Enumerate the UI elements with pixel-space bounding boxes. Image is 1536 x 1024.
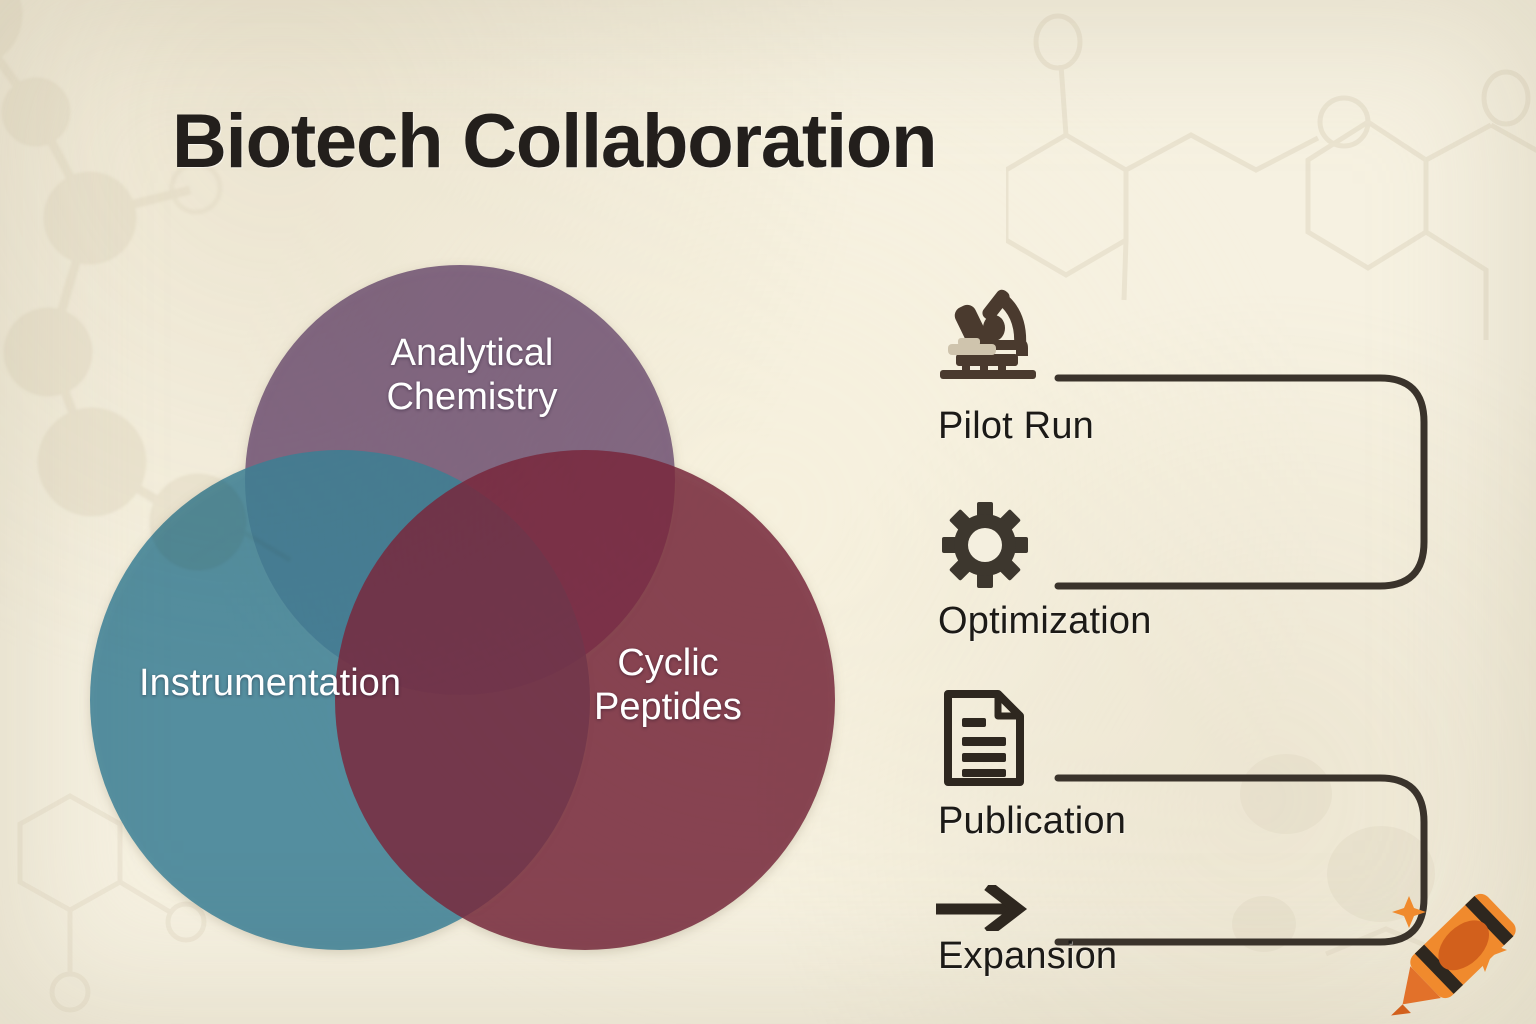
venn-circle-cyclic [335, 450, 835, 950]
connector-pilot-to-optimization [1058, 378, 1424, 586]
gear-icon [940, 500, 1030, 590]
page-title: Biotech Collaboration [172, 98, 936, 185]
venn-circles [60, 210, 880, 970]
step-label-pilot-run: Pilot Run [938, 405, 1094, 448]
venn-diagram: Analytical Chemistry Instrumentation Cyc… [60, 210, 880, 970]
step-label-optimization: Optimization [938, 600, 1152, 643]
document-icon [942, 690, 1026, 786]
orange-crayon [1385, 862, 1535, 1024]
poster-canvas: Biotech Collaboration Analytical Chemist… [0, 0, 1536, 1024]
step-label-expansion: Expansion [938, 935, 1117, 978]
arrow-right-icon [936, 885, 1032, 931]
step-label-publication: Publication [938, 800, 1126, 843]
microscope-icon [936, 278, 1040, 382]
